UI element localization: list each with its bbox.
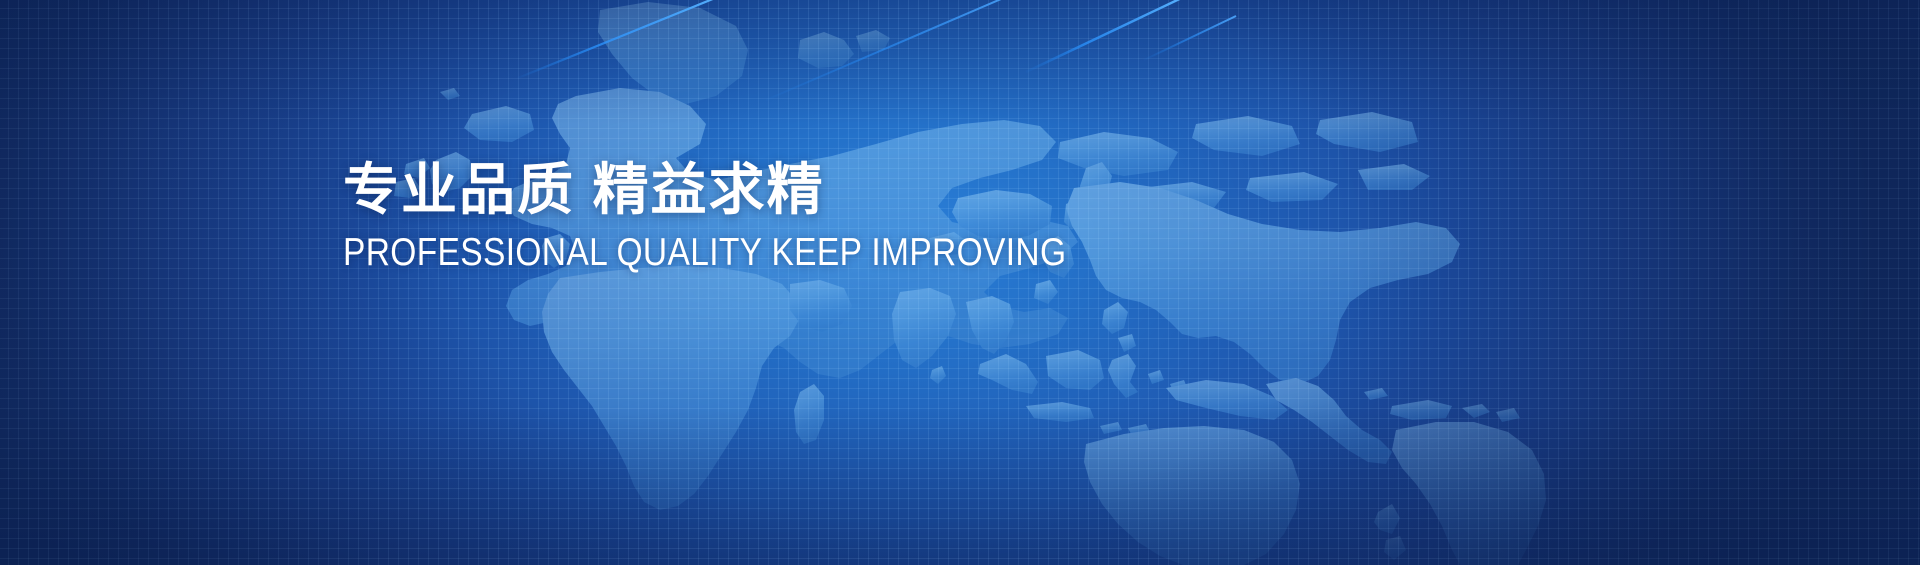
- banner-headline-zh: 专业品质 精益求精: [343, 158, 1343, 222]
- hero-banner: 专业品质 精益求精 PROFESSIONAL QUALITY KEEP IMPR…: [0, 0, 1920, 565]
- vignette-overlay: [0, 0, 1920, 565]
- banner-subheadline-en: PROFESSIONAL QUALITY KEEP IMPROVING: [343, 230, 1203, 276]
- banner-copy: 专业品质 精益求精 PROFESSIONAL QUALITY KEEP IMPR…: [343, 158, 1343, 276]
